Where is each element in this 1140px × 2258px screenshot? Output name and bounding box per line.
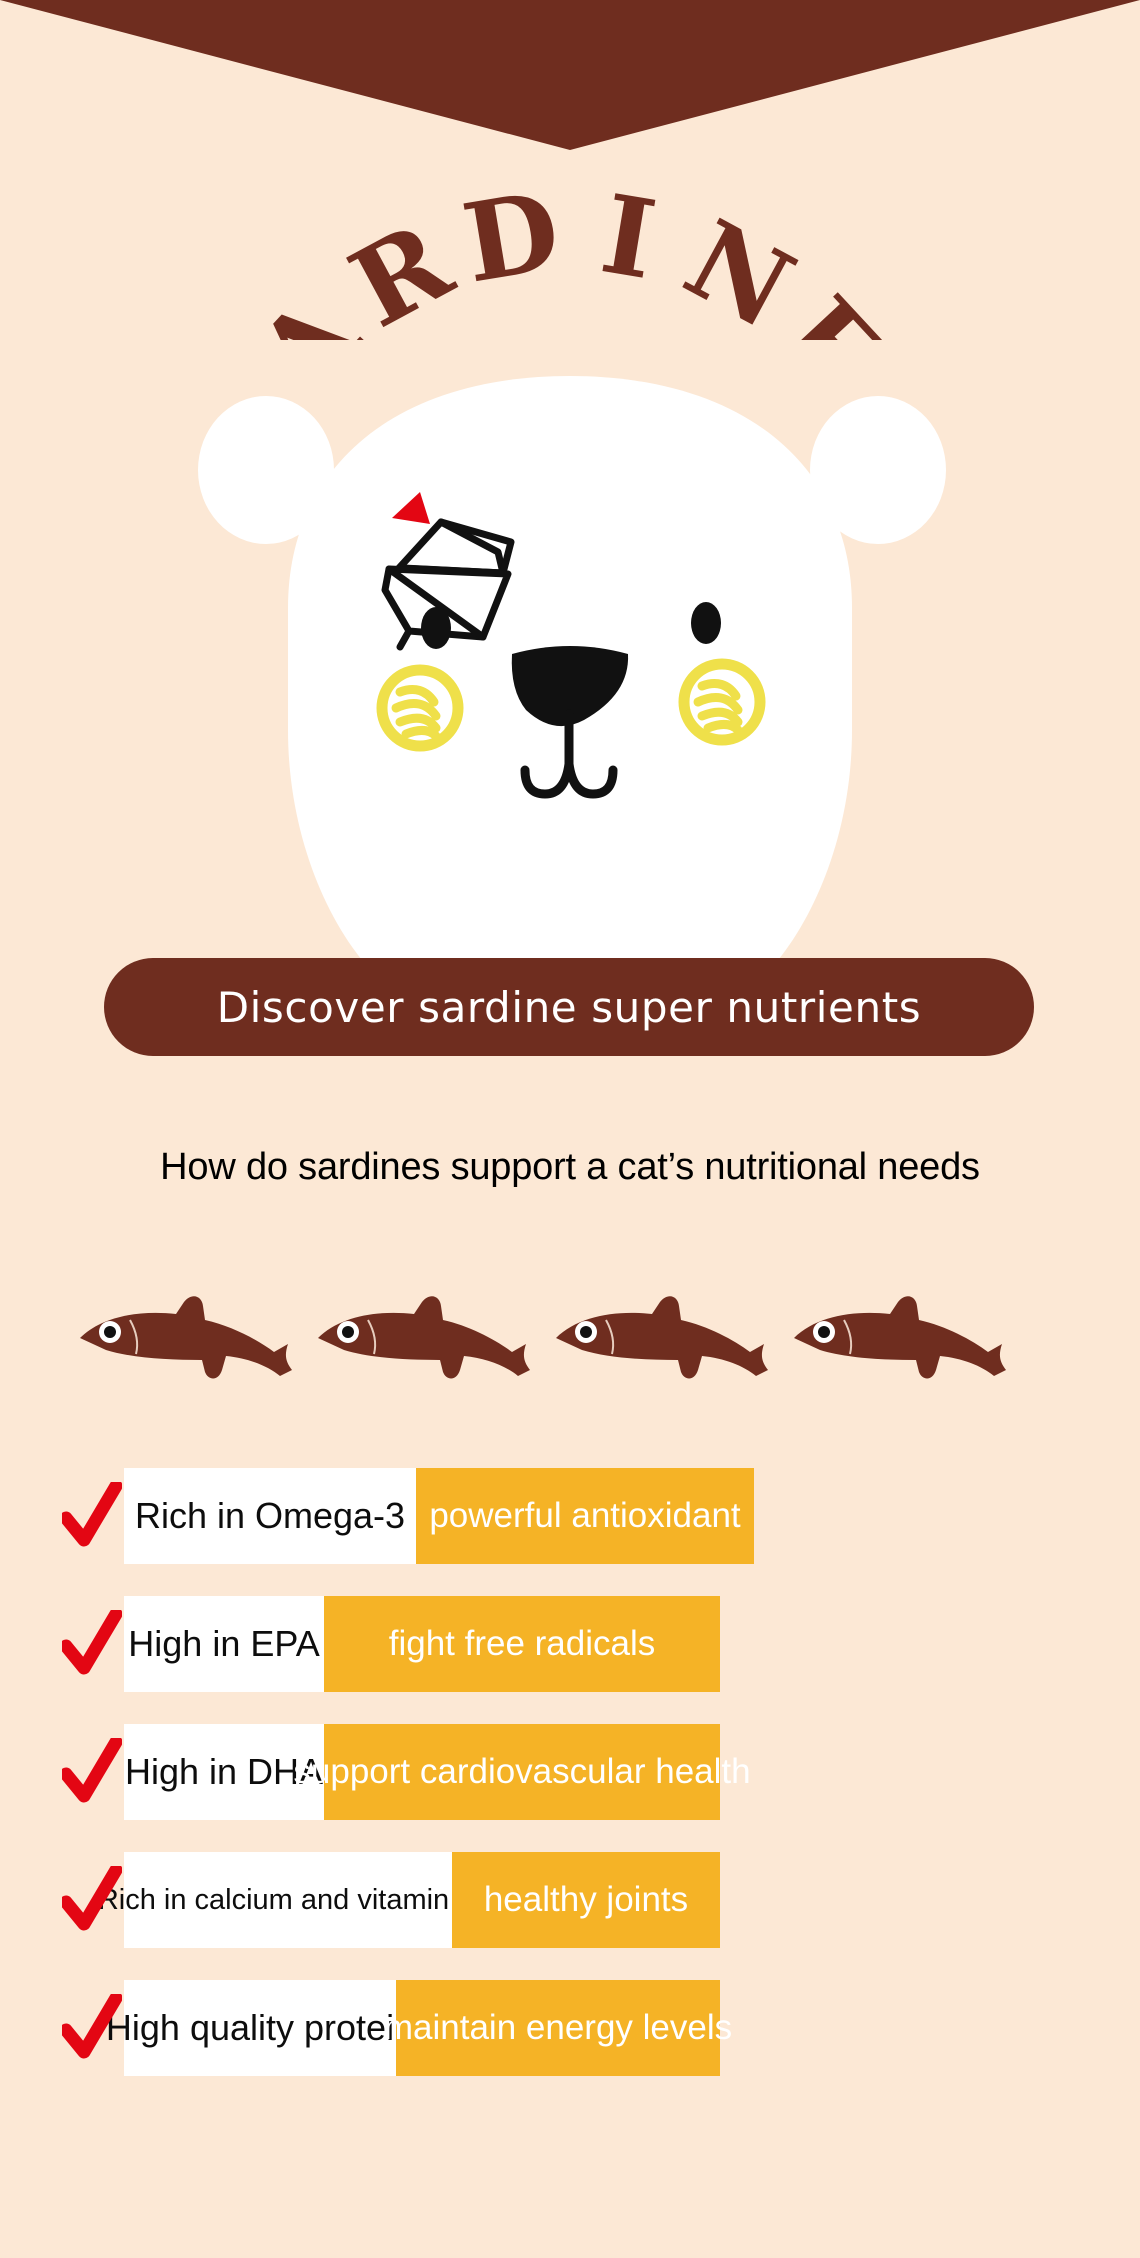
checklist-row[interactable]: High in EPAfight free radicals — [0, 1596, 1140, 1692]
title-letter: I — [593, 172, 663, 305]
fish-strip-svg — [72, 1290, 1072, 1400]
sardine-fish-icon — [318, 1296, 530, 1378]
checklist-row[interactable]: Rich in calcium and vitamin Dhealthy joi… — [0, 1852, 1140, 1948]
infographic-page: SARDINES — [0, 0, 1140, 2258]
checklist-value-box: maintain energy levels — [396, 1980, 720, 2076]
banner-text: Discover sardine super nutrients — [217, 983, 922, 1032]
check-mark-icon — [62, 1610, 122, 1680]
checklist-label-text: Rich in Omega-3 — [135, 1495, 405, 1537]
banner-pill[interactable]: Discover sardine super nutrients — [104, 958, 1034, 1056]
checklist-row[interactable]: Rich in Omega-3powerful antioxidant — [0, 1468, 1140, 1564]
checklist-row[interactable]: High quality proteinmaintain energy leve… — [0, 1980, 1140, 2076]
bear-eye-right — [691, 602, 721, 644]
check-mark-icon — [62, 1866, 122, 1936]
check-mark-icon — [62, 1994, 122, 2064]
fish-strip — [72, 1290, 1072, 1400]
checklist-value-text: support cardiovascular health — [293, 1752, 750, 1792]
checklist-value-text: powerful antioxidant — [429, 1496, 740, 1536]
checklist-value-text: fight free radicals — [389, 1624, 656, 1664]
subheading: How do sardines support a cat’s nutritio… — [0, 1146, 1140, 1189]
checklist-value-text: maintain energy levels — [384, 2008, 732, 2048]
checklist-label-box: Rich in Omega-3 — [124, 1468, 416, 1564]
checklist-label-text: High quality protein — [106, 2007, 414, 2049]
checklist-value-box: support cardiovascular health — [324, 1724, 720, 1820]
checklist-value-box: healthy joints — [452, 1852, 720, 1948]
bear-eye-left — [421, 607, 451, 649]
check-mark-icon — [62, 1482, 122, 1552]
title-letter: D — [455, 168, 568, 308]
checklist-value-box: fight free radicals — [324, 1596, 720, 1692]
nutrient-checklist: Rich in Omega-3powerful antioxidantHigh … — [0, 1468, 1140, 2108]
checklist-label-box: Rich in calcium and vitamin D — [124, 1852, 452, 1948]
sardine-fish-icon — [794, 1296, 1006, 1378]
sardine-fish-icon — [80, 1296, 292, 1378]
check-mark-icon — [62, 1738, 122, 1808]
checklist-value-text: healthy joints — [484, 1880, 688, 1920]
checklist-label-text: Rich in calcium and vitamin D — [98, 1884, 478, 1917]
polar-bear-mascot — [0, 290, 1140, 990]
checklist-row[interactable]: High in DHAsupport cardiovascular health — [0, 1724, 1140, 1820]
sardine-fish-icon — [556, 1296, 768, 1378]
checklist-label-box: High in EPA — [124, 1596, 324, 1692]
checklist-label-text: High in EPA — [128, 1623, 319, 1665]
checklist-label-box: High quality protein — [124, 1980, 396, 2076]
checklist-value-box: powerful antioxidant — [416, 1468, 754, 1564]
